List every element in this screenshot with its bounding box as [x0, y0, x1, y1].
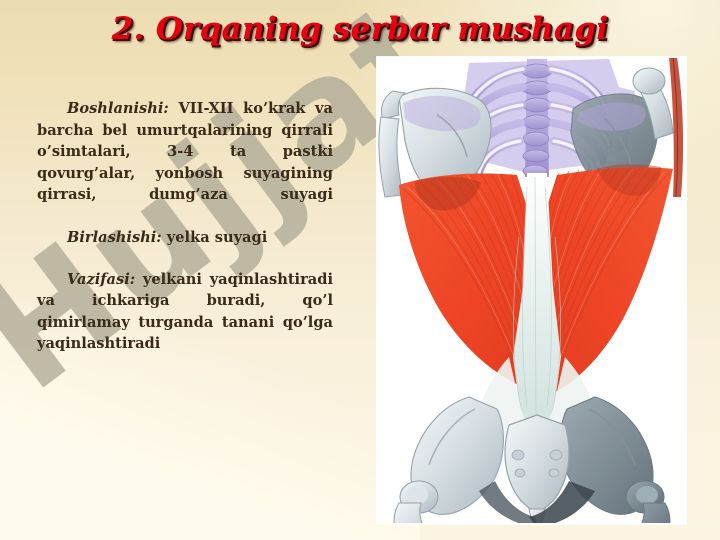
slide-canvas: Hujjat 2. Orqaning serbar mushagi Boshla… [0, 0, 720, 540]
paragraph-boshlanishi: Boshlanishi: VII-XII ko’krak va barcha b… [37, 98, 333, 227]
text-birlashishi: yelka suyagi [162, 229, 268, 246]
latissimus-dorsi-illustration [377, 57, 686, 524]
label-vazifasi: Vazifasi: [67, 271, 135, 288]
label-birlashishi: Birlashishi: [67, 229, 162, 246]
page-title: 2. Orqaning serbar mushagi [0, 11, 720, 47]
paragraph-birlashishi: Birlashishi: yelka suyagi [37, 227, 333, 249]
paragraph-vazifasi: Vazifasi: yelkani yaqinlashtiradi va ich… [37, 269, 333, 377]
anatomy-figure [377, 57, 686, 524]
content-text-column: Boshlanishi: VII-XII ko’krak va barcha b… [37, 98, 333, 376]
paragraph-spacer [37, 249, 333, 269]
label-boshlanishi: Boshlanishi: [67, 100, 169, 117]
